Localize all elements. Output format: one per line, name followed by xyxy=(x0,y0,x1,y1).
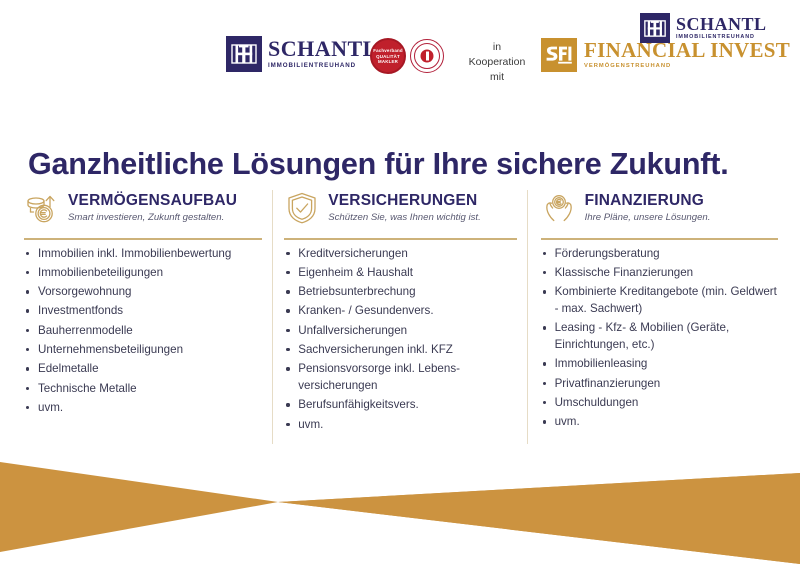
column-title: VERMÖGENSAUFBAU xyxy=(68,192,237,209)
column-finanzierung: FINANZIERUNG Ihre Pläne, unsere Lösungen… xyxy=(527,186,778,436)
list-item: uvm. xyxy=(284,417,526,434)
page-title: Ganzheitliche Lösungen für Ihre sichere … xyxy=(28,147,728,182)
list-item: Berufsunfähigkeitsvers. xyxy=(284,397,526,414)
ith-monogram-icon xyxy=(226,36,262,72)
column-subtitle: Schützen Sie, was Ihnen wichtig ist. xyxy=(328,213,481,224)
footer: Office Wien: Passauer Platz 6 1010 Wien … xyxy=(0,440,800,564)
service-columns: VERMÖGENSAUFBAU Smart investieren, Zukun… xyxy=(24,186,778,436)
list-item: Eigenheim & Haushalt xyxy=(284,265,526,282)
hands-holding-coin-icon xyxy=(541,190,577,226)
list-item: Leasing - Kfz- & Mobilien (Geräte, Einri… xyxy=(541,320,778,354)
list-item: Privatfinanzierungen xyxy=(541,376,778,393)
logo-schantl-subtitle: IMMOBILIENTREUHAND xyxy=(268,63,378,69)
list-item: Technische Metalle xyxy=(24,381,272,398)
list-item: Immobilien inkl. Immobilienbewertung xyxy=(24,246,272,263)
logo-schantl-subtitle: IMMOBILIENTREUHAND xyxy=(676,35,767,40)
column-versicherungen: VERSICHERUNGEN Schützen Sie, was Ihnen w… xyxy=(272,186,526,436)
service-list-vermoegensaufbau: Immobilien inkl. ImmobilienbewertungImmo… xyxy=(24,246,272,417)
column-divider xyxy=(541,238,778,240)
list-item: Pensionsvorsorge inkl. Lebens-versicheru… xyxy=(284,361,526,395)
column-title: VERSICHERUNGEN xyxy=(328,192,481,209)
list-item: Umschuldungen xyxy=(541,395,778,412)
sfi-monogram-icon xyxy=(541,38,577,72)
ith-monogram-icon xyxy=(640,13,670,43)
logo-sfi-name: FINANCIAL INVEST xyxy=(584,40,790,61)
seal-line-1: Fachverband xyxy=(373,48,403,53)
logo-schantl-name: SCHANTL xyxy=(268,38,378,60)
coins-growth-euro-icon xyxy=(24,190,60,226)
list-item: uvm. xyxy=(24,400,272,417)
list-item: Kreditversicherungen xyxy=(284,246,526,263)
service-list-versicherungen: KreditversicherungenEigenheim & Haushalt… xyxy=(284,246,526,434)
list-item: Unfallversicherungen xyxy=(284,323,526,340)
cooperation-note: in Kooperation mit xyxy=(466,40,528,86)
list-item: Betriebsunterbrechung xyxy=(284,284,526,301)
footer-bowtie-shape xyxy=(0,440,800,564)
column-subtitle: Ihre Pläne, unsere Lösungen. xyxy=(585,213,711,224)
column-divider xyxy=(24,238,262,240)
list-item: Sachversicherungen inkl. KFZ xyxy=(284,342,526,359)
seal-line-2: QUALITÄT xyxy=(376,53,400,58)
column-divider xyxy=(284,238,516,240)
poster-page: SCHANTL IMMOBILIENTREUHAND Fachverband Q… xyxy=(0,0,800,564)
logo-sfi-financial-invest: FINANCIAL INVEST VERMÖGENSTREUHAND xyxy=(541,38,790,72)
shield-check-icon xyxy=(284,190,320,226)
seal-line-3: MAKLER xyxy=(378,59,398,64)
list-item: Vorsorgewohnung xyxy=(24,284,272,301)
list-item: Immobilienbeteiligungen xyxy=(24,265,272,282)
list-item: Kranken- / Gesundenvers. xyxy=(284,303,526,320)
column-title: FINANZIERUNG xyxy=(585,192,711,209)
list-item: Kombinierte Kreditangebote (min. Geldwer… xyxy=(541,284,778,318)
column-header: VERSICHERUNGEN Schützen Sie, was Ihnen w… xyxy=(284,186,526,230)
column-header: FINANZIERUNG Ihre Pläne, unsere Lösungen… xyxy=(541,186,778,230)
service-list-finanzierung: FörderungsberatungKlassische Finanzierun… xyxy=(541,246,778,431)
qualitaetsmakler-seal-icon: Fachverband QUALITÄT MAKLER xyxy=(370,38,406,74)
column-subtitle: Smart investieren, Zukunft gestalten. xyxy=(68,213,237,224)
logo-schantl-main: SCHANTL IMMOBILIENTREUHAND xyxy=(226,36,378,72)
list-item: Investmentfonds xyxy=(24,303,272,320)
list-item: uvm. xyxy=(541,414,778,431)
list-item: Klassische Finanzierungen xyxy=(541,265,778,282)
list-item: Unternehmensbeteiligungen xyxy=(24,342,272,359)
column-header: VERMÖGENSAUFBAU Smart investieren, Zukun… xyxy=(24,186,272,230)
column-vermoegensaufbau: VERMÖGENSAUFBAU Smart investieren, Zukun… xyxy=(24,186,272,436)
list-item: Bauherrenmodelle xyxy=(24,323,272,340)
list-item: Immobilienleasing xyxy=(541,356,778,373)
list-item: Edelmetalle xyxy=(24,361,272,378)
logo-sfi-subtitle: VERMÖGENSTREUHAND xyxy=(584,64,790,70)
header: SCHANTL IMMOBILIENTREUHAND Fachverband Q… xyxy=(0,0,800,100)
wirtschaftskammer-seal-icon xyxy=(410,39,444,73)
logo-schantl-name: SCHANTL xyxy=(676,15,767,33)
logo-schantl-topright: SCHANTL IMMOBILIENTREUHAND xyxy=(640,13,767,43)
list-item: Förderungsberatung xyxy=(541,246,778,263)
certification-seals: Fachverband QUALITÄT MAKLER xyxy=(370,38,444,74)
